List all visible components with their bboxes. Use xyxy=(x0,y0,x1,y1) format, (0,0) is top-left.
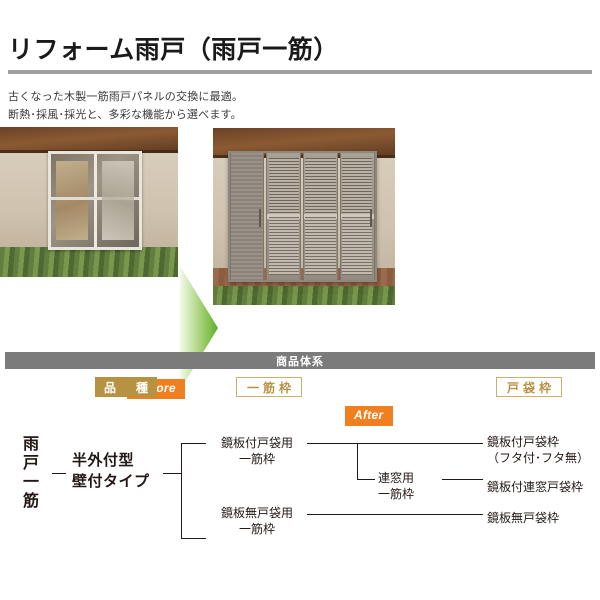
diagram-node-type: 半外付型 壁付タイプ xyxy=(72,450,150,492)
sliding-glass-door xyxy=(48,151,142,250)
hedge xyxy=(213,286,395,305)
diagram-output-3: 鏡板無戸袋枠 xyxy=(487,510,559,526)
shutter-panel xyxy=(266,153,301,280)
shutter-panel xyxy=(303,153,338,280)
output-1-line-1: 鏡板付戸袋枠 xyxy=(487,434,589,450)
diagram-node-renmado: 連窓用 一筋枠 xyxy=(378,470,448,502)
before-photo xyxy=(0,127,178,277)
renmado-line-2: 一筋枠 xyxy=(378,486,448,502)
louver-slats-upper xyxy=(342,158,372,214)
diagram-output-1: 鏡板付戸袋枠 （フタ付･フタ無） xyxy=(487,434,589,466)
connector-root-to-type xyxy=(52,473,66,474)
after-photo-scene xyxy=(213,128,395,305)
output-1-line-2: （フタ付･フタ無） xyxy=(487,450,589,466)
type-line-2: 壁付タイプ xyxy=(72,471,150,492)
diagram-node-branch-1: 鏡板付戸袋用 一筋枠 xyxy=(208,435,306,467)
diagram-root-label: 雨戸一筋 xyxy=(18,435,38,511)
connector-renmado-stub xyxy=(357,479,375,480)
after-photo xyxy=(213,128,395,305)
door-mullion-horizontal xyxy=(51,197,139,200)
before-photo-scene xyxy=(0,127,178,277)
connector-branch2-to-output3 xyxy=(307,514,483,515)
page-title: リフォーム雨戸（雨戸一筋） xyxy=(8,30,339,66)
column-label-hitosujiwaku: 一筋枠 xyxy=(236,377,302,397)
bracket-spine xyxy=(181,443,182,538)
connector-renmado-to-output2 xyxy=(442,479,483,480)
louver-slats-lower xyxy=(269,217,299,275)
louver-slats-lower xyxy=(342,217,372,275)
diagram-output-2: 鏡板付連窓戸袋枠 xyxy=(487,479,583,495)
lead-line-2: 断熱･採風･採光と、多彩な機能から選べます。 xyxy=(8,106,243,124)
product-system-diagram: 雨戸一筋 半外付型 壁付タイプ 鏡板付戸袋用 一筋枠 鏡板無戸袋用 一筋枠 連窓… xyxy=(0,410,600,560)
section-header-product-system: 商品体系 xyxy=(5,352,595,369)
branch-1-line-2: 一筋枠 xyxy=(208,451,306,467)
lead-copy: 古くなった木製一筋雨戸パネルの交換に最適。 断熱･採風･採光と、多彩な機能から選… xyxy=(8,88,243,124)
door-mullion-vertical xyxy=(94,154,97,247)
title-divider xyxy=(8,70,592,74)
diagram-node-branch-2: 鏡板無戸袋用 一筋枠 xyxy=(208,505,306,537)
renmado-line-1: 連窓用 xyxy=(378,470,448,486)
louver-slats-upper xyxy=(269,158,299,214)
connector-type-stub xyxy=(163,473,181,474)
branch-2-line-1: 鏡板無戸袋用 xyxy=(208,505,306,521)
before-after-comparison: Before After xyxy=(0,127,600,312)
connector-branch1-to-output1 xyxy=(307,443,483,444)
lead-line-1: 古くなった木製一筋雨戸パネルの交換に最適。 xyxy=(8,88,243,106)
shutter-panel xyxy=(340,153,375,280)
bracket-arm-upper xyxy=(181,443,206,444)
bracket-arm-lower xyxy=(181,538,206,539)
branch-1-line-1: 鏡板付戸袋用 xyxy=(208,435,306,451)
shutter-handle xyxy=(370,209,372,227)
type-line-1: 半外付型 xyxy=(72,450,150,471)
hedge xyxy=(0,247,178,277)
connector-drop-to-renmado xyxy=(357,443,358,479)
column-label-tobukurowaku: 戸袋枠 xyxy=(496,377,562,397)
louver-slats-upper xyxy=(305,158,335,214)
branch-2-line-2: 一筋枠 xyxy=(208,521,306,537)
shutter-handle xyxy=(259,209,261,227)
shutter-panel xyxy=(230,153,265,280)
louver-shutter-bank xyxy=(228,151,377,282)
column-label-hinshu: 品 種 xyxy=(95,377,157,397)
louver-slats-lower xyxy=(305,217,335,275)
